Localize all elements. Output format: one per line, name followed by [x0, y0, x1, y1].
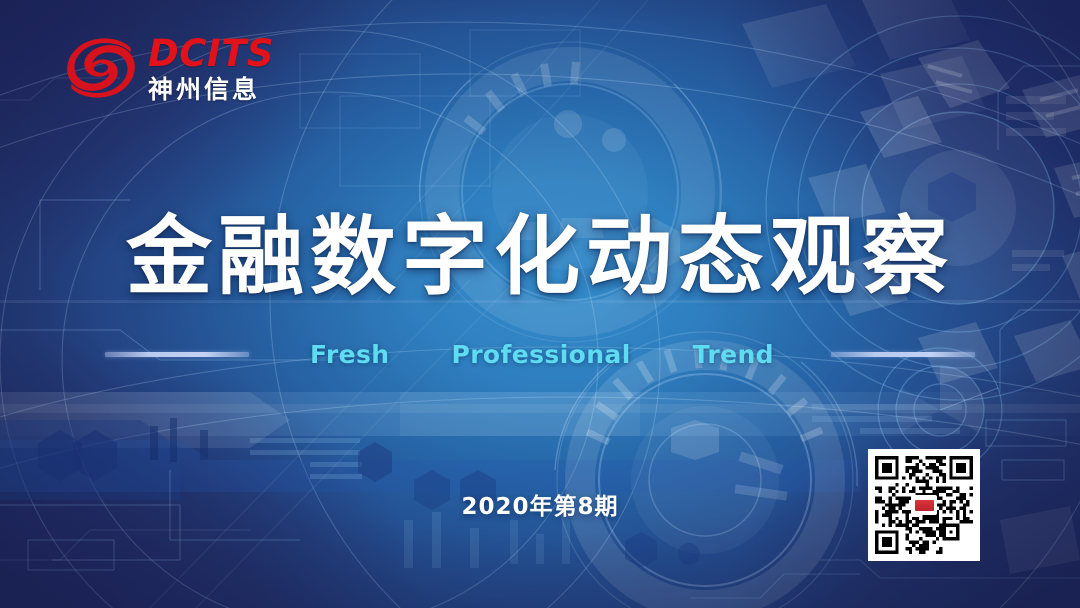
qr-center-logo-mark	[915, 500, 934, 511]
keyword-fresh: Fresh	[279, 340, 420, 369]
poster-canvas: DCITS 神州信息 金融数字化动态观察 Fresh Professional …	[0, 0, 1080, 608]
dcits-swirl-icon	[62, 32, 140, 104]
divider-line-right	[831, 352, 975, 357]
wechat-qr-code[interactable]	[868, 449, 980, 561]
keyword-row: Fresh Professional Trend	[0, 336, 1080, 372]
keyword-trend: Trend	[662, 340, 805, 369]
brand-logo-text: DCITS 神州信息	[148, 35, 274, 102]
brand-logo: DCITS 神州信息	[62, 32, 274, 104]
keyword-professional: Professional	[420, 340, 661, 369]
page-title: 金融数字化动态观察	[0, 186, 1080, 311]
qr-center-logo	[911, 495, 937, 515]
brand-name-en: DCITS	[148, 35, 274, 72]
brand-name-cn: 神州信息	[148, 77, 274, 102]
divider-line-left	[105, 352, 249, 357]
